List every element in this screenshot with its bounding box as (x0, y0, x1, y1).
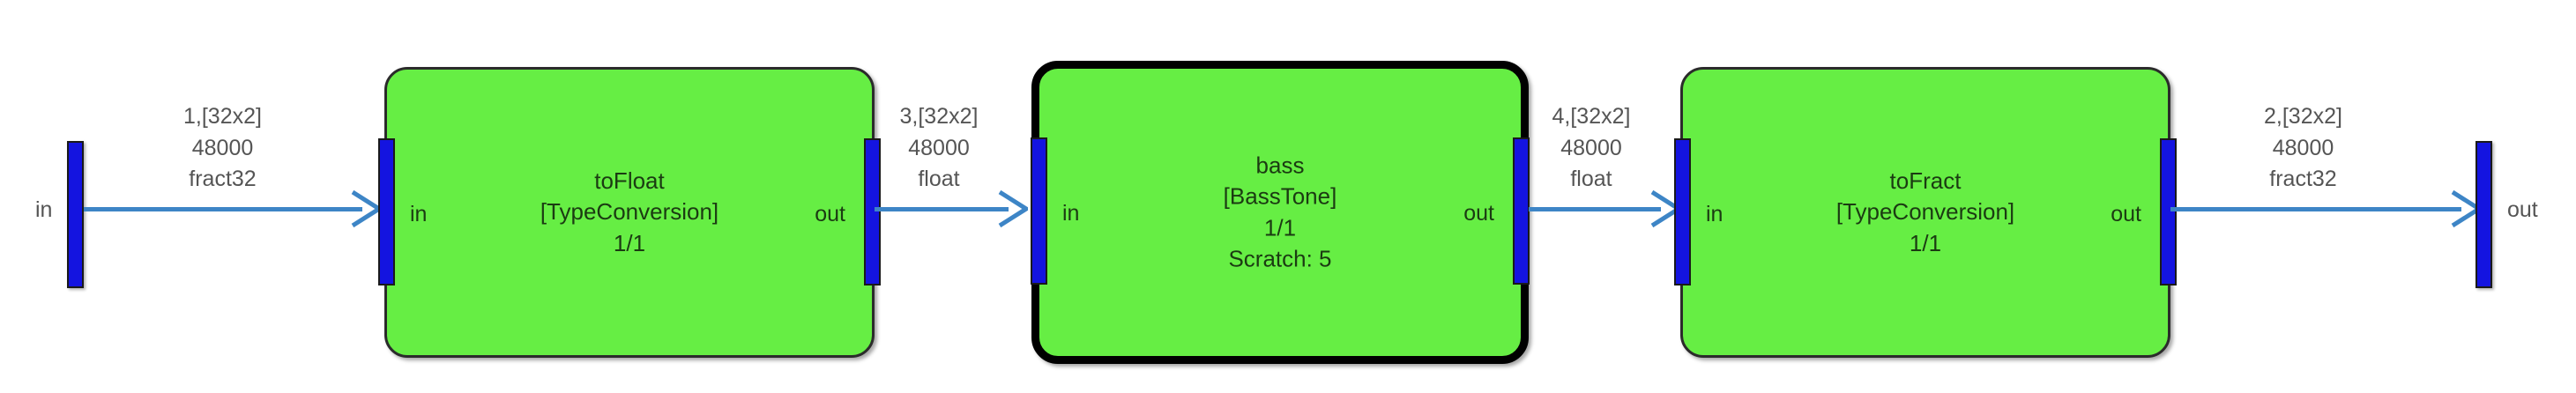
edge-1-channel: 1,[32x2] (123, 101, 322, 133)
edge-4-line[interactable] (1529, 207, 1661, 211)
edge-3-channel: 3,[32x2] (882, 101, 996, 133)
edge-3-label: 3,[32x2] 48000 float (882, 101, 996, 196)
block-tofract-type: [TypeConversion] (1683, 196, 2168, 227)
graph-output-label: out (2507, 199, 2538, 221)
block-tofloat-type: [TypeConversion] (387, 196, 872, 227)
graph-output-terminal[interactable] (2475, 141, 2492, 288)
edge-2-channel: 2,[32x2] (2204, 101, 2402, 133)
block-tofloat-rate: 1/1 (387, 228, 872, 259)
block-tofloat-in-label: in (410, 204, 427, 226)
block-bass-body: bass [BassTone] 1/1 Scratch: 5 (1039, 150, 1521, 274)
block-bass[interactable]: in bass [BassTone] 1/1 Scratch: 5 out (1031, 61, 1529, 364)
block-bass-in-label: in (1062, 203, 1079, 225)
edge-3-line[interactable] (875, 207, 1009, 211)
block-tofract[interactable]: in toFract [TypeConversion] 1/1 out (1680, 67, 2170, 358)
edge-1-rate: 48000 (123, 133, 322, 165)
block-bass-out-label: out (1463, 203, 1494, 225)
edge-1-line[interactable] (84, 207, 362, 211)
edge-3-datatype: float (882, 164, 996, 196)
edge-1-label: 1,[32x2] 48000 fract32 (123, 101, 322, 196)
edge-2-line[interactable] (2170, 207, 2461, 211)
edge-1-datatype: fract32 (123, 164, 322, 196)
edge-2-rate: 48000 (2204, 133, 2402, 165)
block-tofloat-name: toFloat (387, 166, 872, 196)
edge-4-rate: 48000 (1534, 133, 1649, 165)
edge-2-datatype: fract32 (2204, 164, 2402, 196)
block-bass-name: bass (1039, 150, 1521, 181)
edge-4-label: 4,[32x2] 48000 float (1534, 101, 1649, 196)
edge-2-label: 2,[32x2] 48000 fract32 (2204, 101, 2402, 196)
dataflow-diagram-canvas: in 1,[32x2] 48000 fract32 in toFloat [Ty… (0, 0, 2576, 393)
block-bass-extra: Scratch: 5 (1039, 243, 1521, 274)
block-tofract-out-label: out (2111, 204, 2141, 226)
block-bass-in-port[interactable] (1031, 137, 1047, 285)
block-tofloat-out-port[interactable] (864, 138, 881, 285)
block-tofract-out-port[interactable] (2160, 138, 2177, 285)
edge-4-datatype: float (1534, 164, 1649, 196)
edge-1-arrowhead (351, 189, 381, 228)
graph-input-label: in (35, 199, 52, 221)
block-tofloat-out-label: out (815, 204, 845, 226)
block-bass-rate: 1/1 (1039, 212, 1521, 243)
block-tofract-rate: 1/1 (1683, 228, 2168, 259)
block-tofract-in-label: in (1706, 204, 1723, 226)
graph-input-terminal[interactable] (67, 141, 84, 288)
edge-3-arrowhead (998, 189, 1028, 228)
block-tofloat-in-port[interactable] (378, 138, 395, 285)
edge-4-channel: 4,[32x2] (1534, 101, 1649, 133)
block-tofloat-body: toFloat [TypeConversion] 1/1 (387, 166, 872, 259)
block-tofloat[interactable]: in toFloat [TypeConversion] 1/1 out (384, 67, 875, 358)
block-tofract-name: toFract (1683, 166, 2168, 196)
edge-3-rate: 48000 (882, 133, 996, 165)
block-bass-out-port[interactable] (1513, 137, 1530, 285)
block-bass-type: [BassTone] (1039, 182, 1521, 212)
block-tofract-body: toFract [TypeConversion] 1/1 (1683, 166, 2168, 259)
block-tofract-in-port[interactable] (1674, 138, 1691, 285)
